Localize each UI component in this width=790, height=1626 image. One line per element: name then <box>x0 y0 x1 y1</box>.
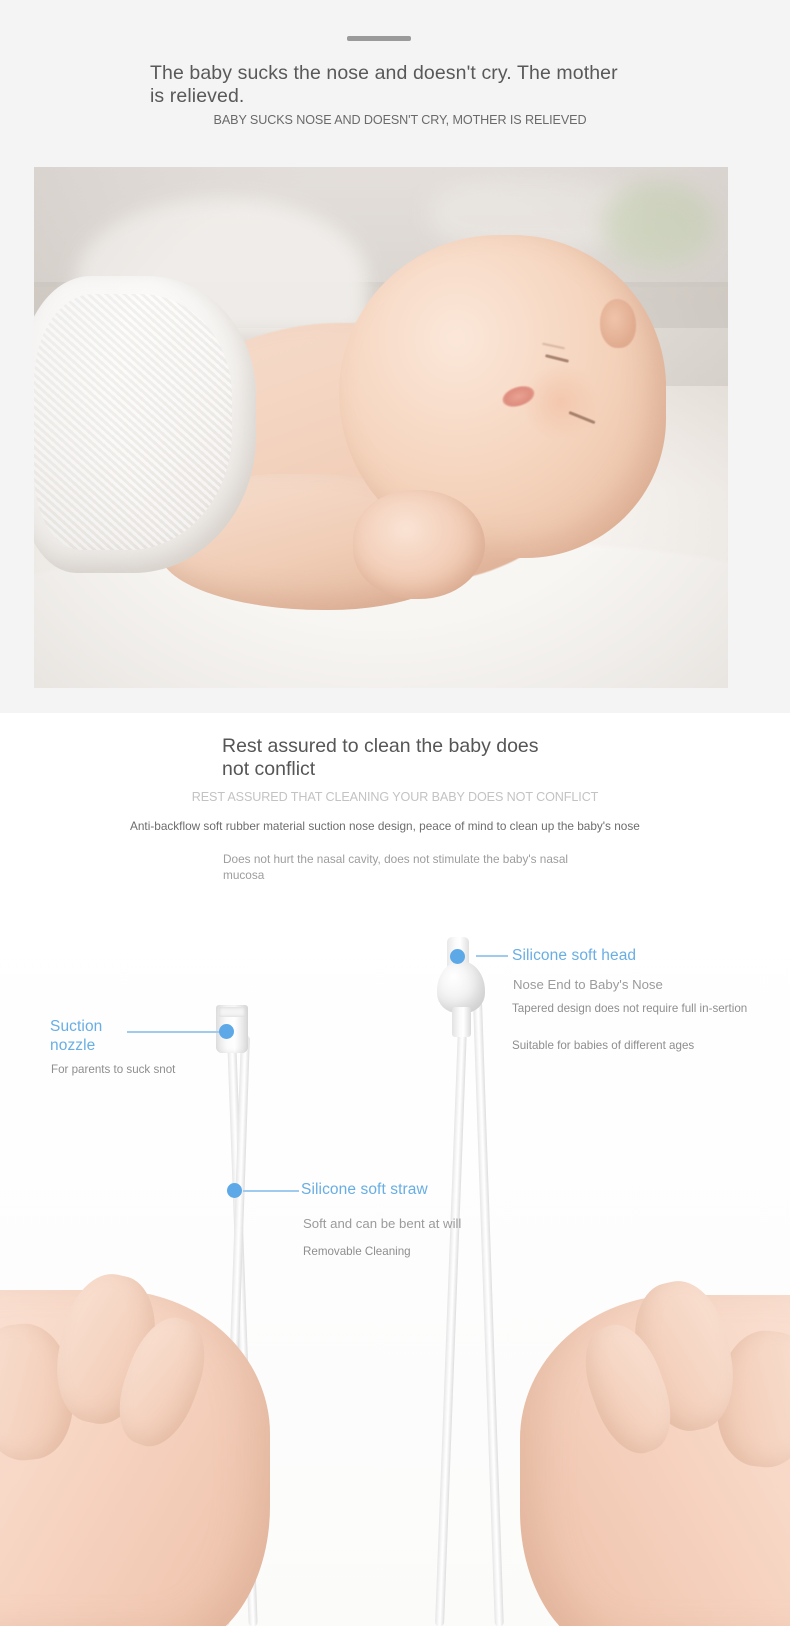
annotation-caption-nose-end: Nose End to Baby's Nose <box>513 976 663 993</box>
section1-title: The baby sucks the nose and doesn't cry.… <box>150 62 620 108</box>
section-baby-photo: The baby sucks the nose and doesn't cry.… <box>0 0 790 713</box>
left-hand <box>0 1290 270 1626</box>
annotation-label-silicone-soft-straw: Silicone soft straw <box>301 1180 428 1199</box>
marker-dot-silicone-soft-straw <box>227 1183 242 1198</box>
annotation-caption-removable-cleaning: Removable Cleaning <box>303 1243 411 1260</box>
annotation-caption-tapered-design: Tapered design does not require full in-… <box>512 1000 762 1017</box>
leader-line-silicone-soft-straw <box>243 1190 299 1192</box>
annotation-caption-suction-nozzle: For parents to suck snot <box>51 1061 175 1078</box>
marker-dot-silicone-soft-head <box>450 949 465 964</box>
section1-subtitle: BABY SUCKS NOSE AND DOESN'T CRY, MOTHER … <box>150 113 650 127</box>
section2-paragraph-1: Anti-backflow soft rubber material sucti… <box>130 818 670 834</box>
sleeping-baby-photo <box>34 167 728 688</box>
annotation-label-silicone-soft-head: Silicone soft head <box>512 946 636 965</box>
marker-dot-suction-nozzle <box>219 1024 234 1039</box>
annotation-label-suction-nozzle: Suction nozzle <box>50 1017 102 1055</box>
photo-vignette <box>34 167 728 688</box>
right-hand <box>520 1295 790 1626</box>
section2-paragraph-2: Does not hurt the nasal cavity, does not… <box>223 851 583 883</box>
section2-title: Rest assured to clean the baby does not … <box>222 735 562 781</box>
section2-subtitle: REST ASSURED THAT CLEANING YOUR BABY DOE… <box>120 790 670 804</box>
annotation-caption-bent-at-will: Soft and can be bent at will <box>303 1215 461 1232</box>
leader-line-suction-nozzle <box>127 1031 222 1033</box>
product-detail-page: The baby sucks the nose and doesn't cry.… <box>0 0 790 1626</box>
divider-bar <box>347 36 411 41</box>
leader-line-silicone-soft-head <box>476 955 508 957</box>
soft-head-bulb <box>437 961 485 1013</box>
annotation-caption-suitable-ages: Suitable for babies of different ages <box>512 1037 694 1054</box>
product-annotation-diagram: Suction nozzle For parents to suck snot … <box>0 905 790 1626</box>
soft-head-neck <box>452 1007 471 1037</box>
